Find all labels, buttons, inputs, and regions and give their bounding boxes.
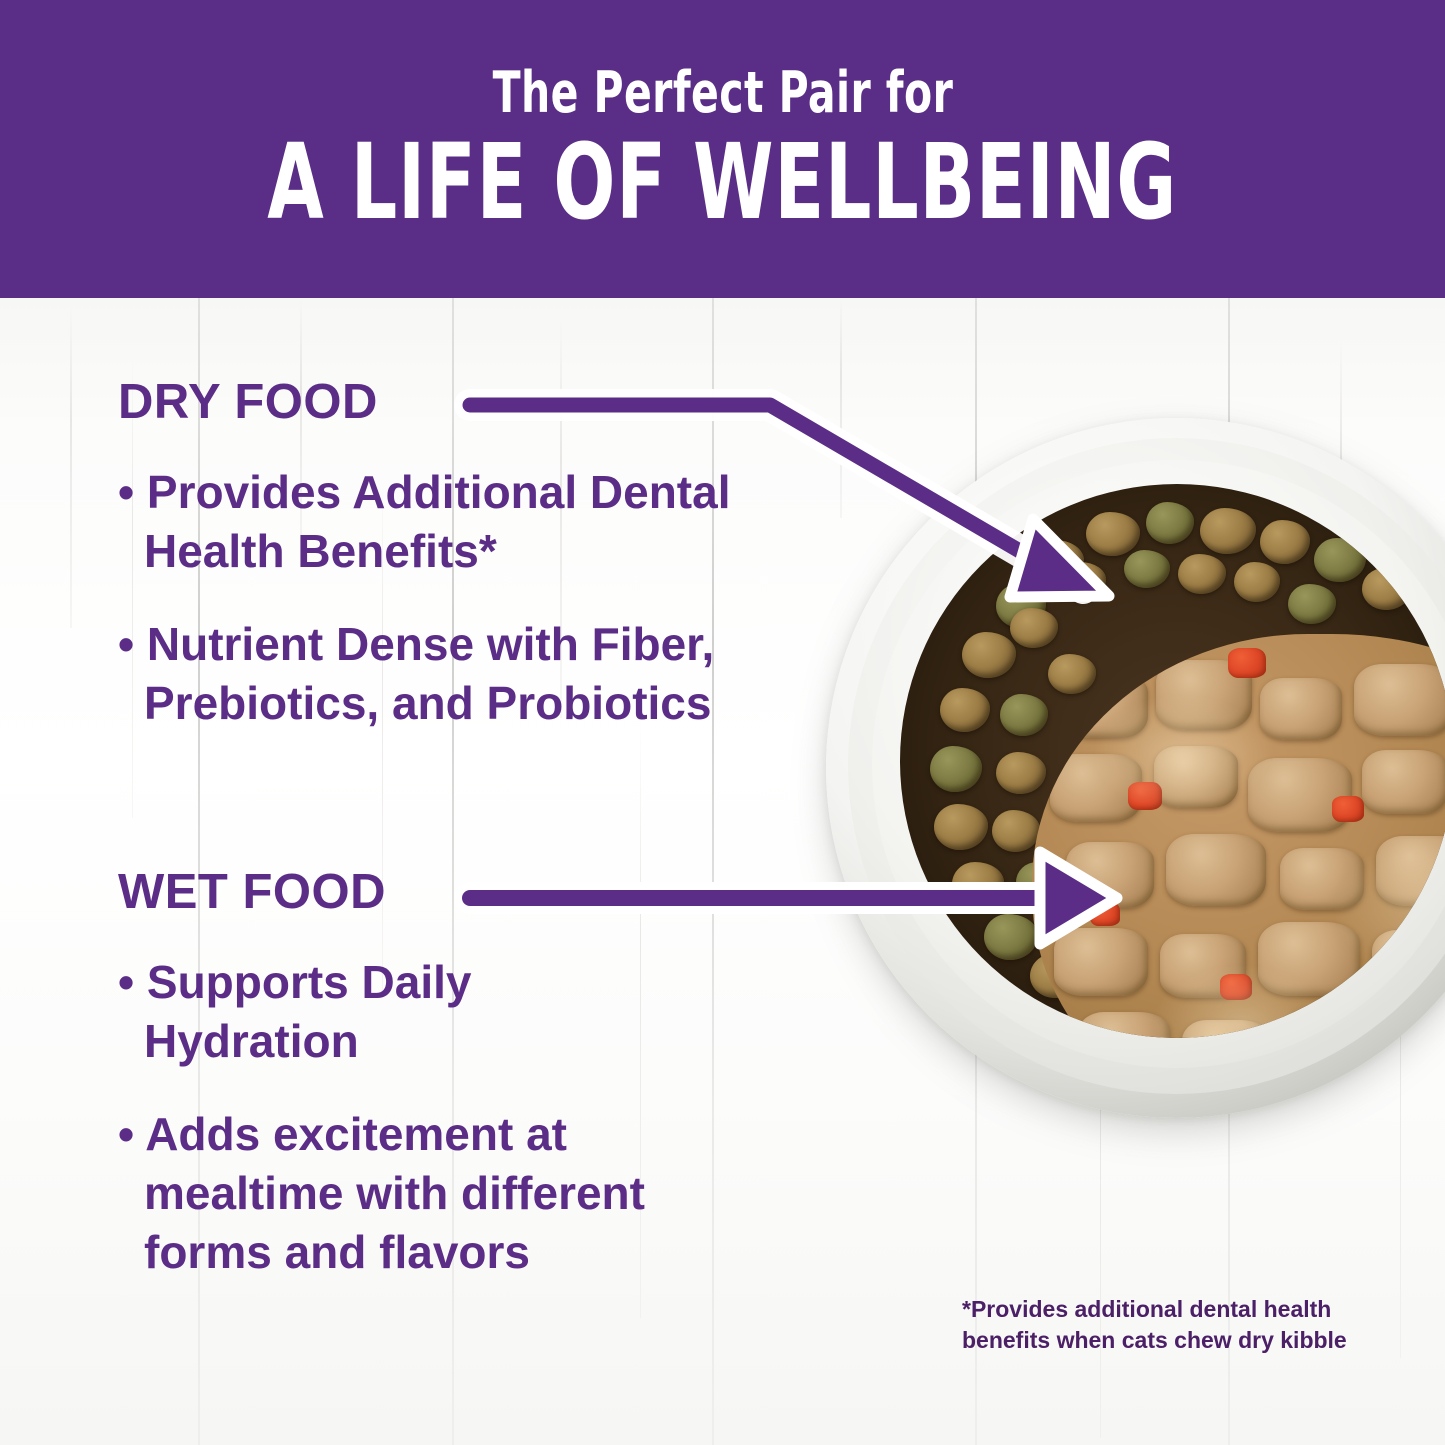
bullet-dot-icon: •	[118, 1108, 134, 1160]
bullet-list-wet-food: • Supports Daily Hydration • Adds excite…	[118, 953, 678, 1281]
list-item-label: Provides Additional Dental Health Benefi…	[144, 466, 731, 577]
section-heading-wet-food: WET FOOD	[118, 868, 678, 917]
cat-food-bowl	[826, 418, 1445, 1278]
list-item-label: Adds excitement at mealtime with differe…	[144, 1108, 645, 1278]
list-item: • Supports Daily Hydration	[118, 953, 638, 1071]
bullet-list-dry-food: • Provides Additional Dental Health Bene…	[118, 463, 758, 733]
section-dry-food: DRY FOOD • Provides Additional Dental He…	[118, 378, 758, 767]
bullet-dot-icon: •	[118, 618, 134, 670]
page-title: A LIFE OF WELLBEING	[268, 130, 1178, 234]
wood-grain	[70, 308, 72, 628]
infographic-page: The Perfect Pair for A LIFE OF WELLBEING	[0, 0, 1445, 1445]
section-wet-food: WET FOOD • Supports Daily Hydration • Ad…	[118, 868, 678, 1315]
list-item: • Provides Additional Dental Health Bene…	[118, 463, 758, 581]
footnote-text: *Provides additional dental health benef…	[962, 1294, 1382, 1356]
bullet-dot-icon: •	[118, 466, 134, 518]
header-banner: The Perfect Pair for A LIFE OF WELLBEING	[0, 0, 1445, 298]
section-heading-dry-food: DRY FOOD	[118, 378, 758, 427]
bowl-interior	[900, 484, 1445, 1038]
header-eyebrow: The Perfect Pair for	[492, 65, 953, 122]
wet-food-area	[1032, 634, 1445, 1038]
list-item: • Adds excitement at mealtime with diffe…	[118, 1105, 678, 1282]
bullet-dot-icon: •	[118, 956, 134, 1008]
list-item-label: Nutrient Dense with Fiber, Prebiotics, a…	[144, 618, 714, 729]
list-item: • Nutrient Dense with Fiber, Prebiotics,…	[118, 615, 758, 733]
list-item-label: Supports Daily Hydration	[144, 956, 472, 1067]
